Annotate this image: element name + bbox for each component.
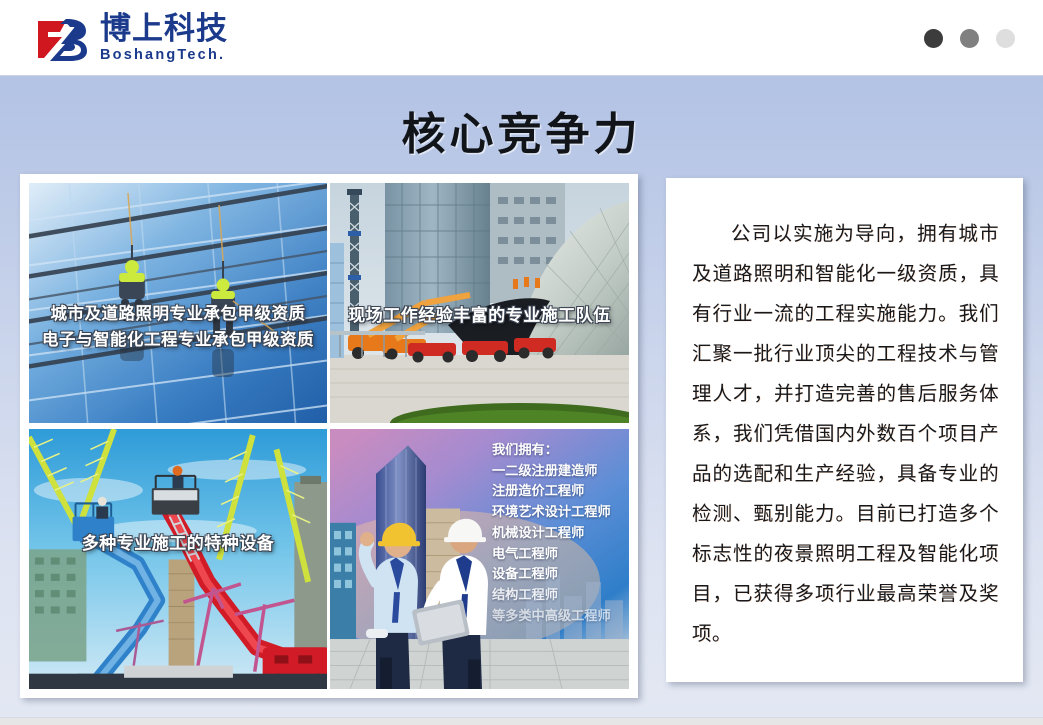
window-dot-light[interactable] bbox=[996, 29, 1015, 48]
slide-page: 博上科技 BoshangTech. 核心竞争力 bbox=[0, 0, 1043, 725]
engineers-with-hardhats-photo-icon bbox=[330, 429, 629, 689]
aerial-lift-equipment-photo-icon bbox=[29, 429, 327, 689]
photo-collage-card: 城市及道路照明专业承包甲级资质 电子与智能化工程专业承包甲级资质 bbox=[20, 174, 638, 698]
window-dot-medium[interactable] bbox=[960, 29, 979, 48]
boshang-b-logo-icon bbox=[36, 15, 92, 63]
header-bar: 博上科技 BoshangTech. bbox=[0, 0, 1043, 76]
description-card: 公司以实施为导向，拥有城市及道路照明和智能化一级资质，具有行业一流的工程实施能力… bbox=[666, 178, 1023, 682]
glass-curtain-wall-workers-photo-icon bbox=[29, 183, 327, 423]
page-title: 核心竞争力 bbox=[0, 98, 1043, 162]
window-dot-dark[interactable] bbox=[924, 29, 943, 48]
brand-logo[interactable]: 博上科技 BoshangTech. bbox=[36, 14, 228, 64]
photo-aerial-lift-equipment[interactable]: 多种专业施工的特种设备 bbox=[29, 429, 330, 689]
photo-glass-curtain-wall[interactable]: 城市及道路照明专业承包甲级资质 电子与智能化工程专业承包甲级资质 bbox=[29, 183, 330, 429]
construction-site-cranes-photo-icon bbox=[330, 183, 629, 423]
window-control-dots bbox=[924, 29, 1015, 48]
logo-chinese-name: 博上科技 bbox=[100, 14, 228, 45]
description-body: 公司以实施为导向，拥有城市及道路照明和智能化一级资质，具有行业一流的工程实施能力… bbox=[666, 178, 1023, 654]
logo-english-name: BoshangTech. bbox=[100, 48, 228, 64]
company-description-paragraph: 公司以实施为导向，拥有城市及道路照明和智能化一级资质，具有行业一流的工程实施能力… bbox=[692, 214, 999, 654]
bottom-strip bbox=[0, 717, 1043, 725]
logo-wordmark: 博上科技 BoshangTech. bbox=[100, 14, 228, 64]
photo-engineers[interactable]: 我们拥有： 一二级注册建造师 注册造价工程师 环境艺术设计工程师 机械设计工程师… bbox=[330, 429, 629, 689]
photo-construction-site[interactable]: 现场工作经验丰富的专业施工队伍 bbox=[330, 183, 629, 429]
photo-grid: 城市及道路照明专业承包甲级资质 电子与智能化工程专业承包甲级资质 bbox=[29, 183, 629, 689]
